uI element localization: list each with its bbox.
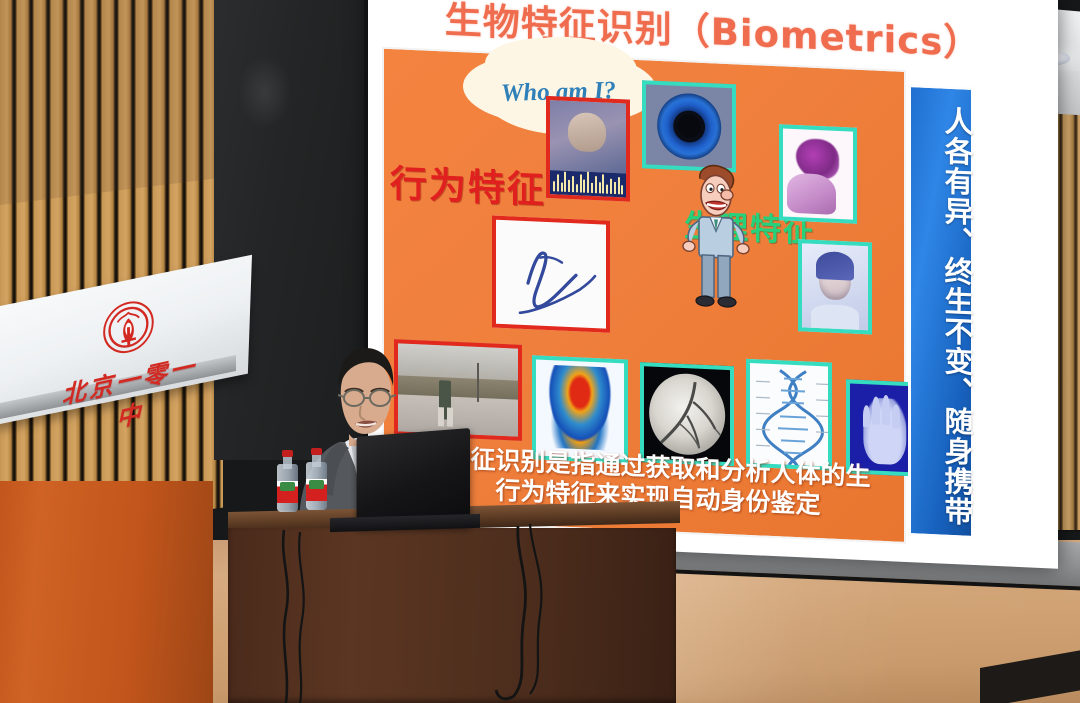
thermal-heatmap-icon: [544, 365, 616, 451]
screenshot-root: 生物特征识别（Biometrics） Who am I? 行为特征 生理特征: [0, 0, 1080, 703]
cartoon-character: [680, 160, 752, 313]
signature-icon: [496, 220, 610, 333]
vein-vascular-photo: [640, 362, 734, 466]
vascular-scan-circle: [649, 372, 725, 456]
water-bottle: [277, 450, 298, 512]
label-behavioral-features: 行为特征: [390, 153, 546, 214]
water-bottle: [306, 448, 327, 510]
laptop-screen[interactable]: [357, 428, 470, 528]
school-logo-icon: [101, 294, 156, 360]
vertical-blue-banner: 人各有异、终生不变、随身携带: [908, 84, 974, 539]
cartoon-person-icon: [680, 160, 752, 313]
face-body: [811, 304, 859, 330]
dna-helix-photo: [746, 359, 832, 471]
signature-photo: [492, 216, 610, 333]
audio-waveform-icon: [550, 170, 626, 198]
desk-front-panel: [228, 528, 676, 703]
gait-pole: [477, 363, 479, 402]
iris-icon: [657, 92, 721, 160]
cell-sample-photo: [779, 124, 857, 223]
podium-body: [0, 481, 213, 703]
projection-screen: 生物特征识别（Biometrics） Who am I? 行为特征 生理特征: [368, 0, 1058, 569]
voice-face-shape: [568, 112, 606, 153]
voice-headshot: [550, 100, 626, 173]
iris-photo: [642, 80, 736, 172]
dna-helix-icon: [750, 363, 832, 471]
cell-hand-shape: [787, 173, 836, 216]
voice-waveform-photo: [546, 96, 630, 202]
vein-branches-icon: [649, 372, 725, 456]
face-photo: [798, 239, 872, 334]
gait-legs: [438, 407, 454, 427]
